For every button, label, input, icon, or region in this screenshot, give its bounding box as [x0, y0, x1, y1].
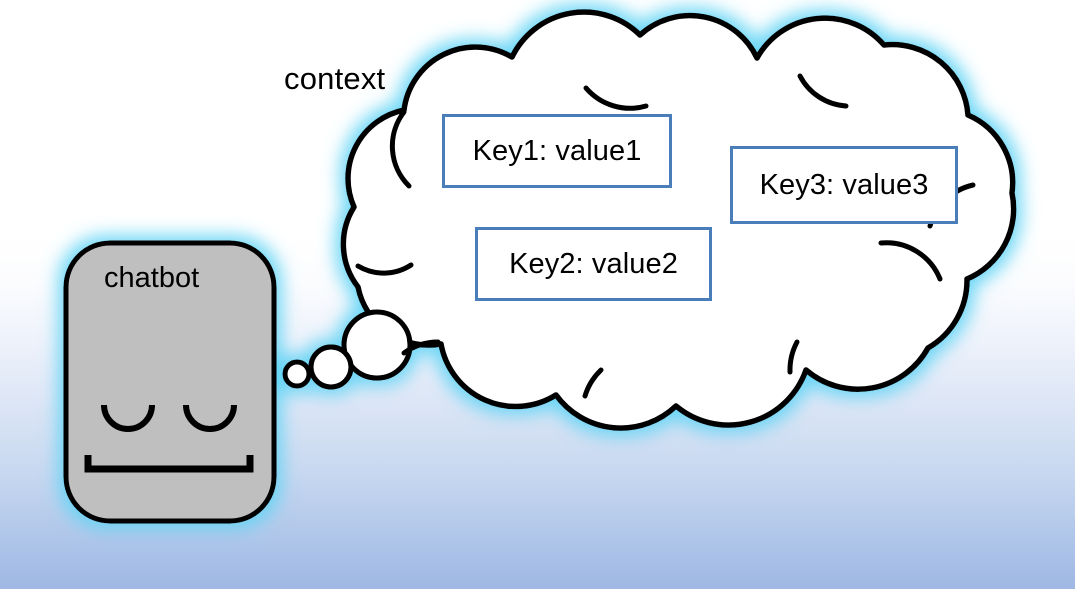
tail-bubble-medium-fill — [314, 350, 349, 385]
context-item-label-1: Key1: value1 — [473, 135, 642, 168]
chatbot-label: chatbot — [104, 264, 199, 293]
diagram-canvas: context chatbot Key1: value1 Key2: value… — [0, 0, 1075, 589]
cloud-overlap-cleanup — [311, 312, 410, 387]
context-item-label-3: Key3: value3 — [760, 169, 929, 202]
context-item-label-2: Key2: value2 — [509, 248, 678, 281]
context-item-box-1[interactable]: Key1: value1 — [442, 114, 672, 188]
tail-bubble-large-fill — [347, 315, 408, 376]
thought-tail-bubble-small — [285, 362, 309, 386]
context-item-box-2[interactable]: Key2: value2 — [475, 227, 712, 301]
context-item-box-3[interactable]: Key3: value3 — [730, 146, 958, 224]
context-label: context — [284, 63, 385, 94]
